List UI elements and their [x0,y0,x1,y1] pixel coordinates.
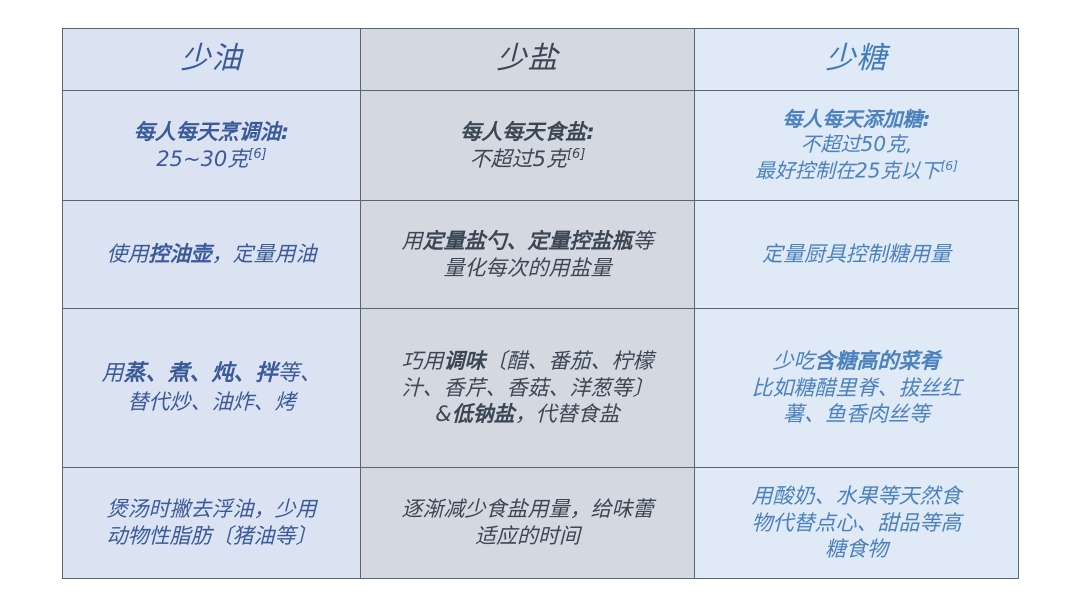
diet-advice-table-wrapper: 少油 少盐 少糖 每人每天烹调油: 25~30克[6] [62,28,1018,578]
sugar-amount-line2: 不超过50克, [703,132,1010,158]
salt-habit-line2: 适应的时间 [369,523,686,550]
salt-method-line3: &低钠盐，代替食盐 [369,401,686,428]
salt-tool-strong: 定量盐勺、定量控盐瓶 [423,229,633,253]
salt-tool-line1: 用定量盐勺、定量控盐瓶等 [369,228,686,255]
salt-amount-line1: 每人每天食盐: [369,119,686,146]
cell-oil-daily-amount: 每人每天烹调油: 25~30克[6] [63,91,361,201]
oil-tool-post: ，定量用油 [212,242,317,266]
oil-tool-pre: 使用 [107,242,149,266]
cell-oil-measuring-tools: 使用控油壶，定量用油 [63,201,361,309]
oil-method-post: 等、 [278,361,322,386]
header-cell-salt: 少盐 [361,29,695,91]
salt-method-amp: & [435,402,451,426]
salt-method-line2: 汁、香芹、香菇、洋葱等〕 [369,375,686,402]
salt-tool-line2: 量化每次的用盐量 [369,255,686,282]
salt-method-l3post: ，代替食盐 [515,402,620,426]
table-row: 每人每天烹调油: 25~30克[6] 每人每天食盐: 不超过5克[6] 每人每天… [63,91,1019,201]
sugar-habit-line2: 物代替点心、甜品等高 [703,510,1010,537]
cell-sugar-habit-change: 用酸奶、水果等天然食 物代替点心、甜品等高 糖食物 [695,468,1019,579]
table-row: 煲汤时撇去浮油，少用 动物性脂肪〔猪油等〕 逐渐减少食盐用量，给味蕾 适应的时间… [63,468,1019,579]
oil-habit-line2: 动物性脂肪〔猪油等〕 [71,523,352,550]
cell-oil-habit-change: 煲汤时撇去浮油，少用 动物性脂肪〔猪油等〕 [63,468,361,579]
sugar-amount-line3: 最好控制在25克以下[6] [703,158,1010,184]
sugar-method-pre: 少吃 [773,349,815,373]
salt-tool-pre: 用 [402,229,423,253]
cell-sugar-cooking-method: 少吃含糖高的菜肴 比如糖醋里脊、拔丝红 薯、鱼香肉丝等 [695,309,1019,468]
salt-amount-value: 不超过5克 [470,147,567,171]
oil-amount-line1: 每人每天烹调油: [71,119,352,146]
diet-advice-table: 少油 少盐 少糖 每人每天烹调油: 25~30克[6] [62,28,1019,579]
cell-salt-measuring-tools: 用定量盐勺、定量控盐瓶等 量化每次的用盐量 [361,201,695,309]
sugar-method-line2: 比如糖醋里脊、拔丝红 [703,375,1010,402]
salt-amount-ref: [6] [567,147,585,162]
oil-tool-line1: 使用控油壶，定量用油 [71,241,352,268]
cell-sugar-measuring-tools: 定量厨具控制糖用量 [695,201,1019,309]
oil-amount-value: 25~30克 [156,147,248,171]
oil-method-pre: 用 [101,361,123,386]
infographic-root: 少油 少盐 少糖 每人每天烹调油: 25~30克[6] [0,0,1080,608]
salt-method-pre: 巧用 [402,349,444,373]
salt-amount-line2: 不超过5克[6] [369,146,686,173]
sugar-method-strong: 含糖高的菜肴 [815,349,941,373]
oil-method-line1: 用蒸、煮、炖、拌等、 [71,360,352,388]
oil-tool-strong: 控油壶 [149,242,212,266]
salt-method-post: 〔醋、番茄、柠檬 [486,349,654,373]
salt-method-strong: 调味 [444,349,486,373]
table-row: 使用控油壶，定量用油 用定量盐勺、定量控盐瓶等 量化每次的用盐量 定量厨具控制糖… [63,201,1019,309]
sugar-habit-line3: 糖食物 [703,536,1010,563]
header-label-sugar: 少糖 [703,40,1010,78]
cell-salt-cooking-method: 巧用调味〔醋、番茄、柠檬 汁、香芹、香菇、洋葱等〕 &低钠盐，代替食盐 [361,309,695,468]
header-cell-sugar: 少糖 [695,29,1019,91]
oil-habit-line1: 煲汤时撇去浮油，少用 [71,496,352,523]
table-row: 用蒸、煮、炖、拌等、 替代炒、油炸、烤 巧用调味〔醋、番茄、柠檬 汁、香芹、香菇… [63,309,1019,468]
cell-oil-cooking-method: 用蒸、煮、炖、拌等、 替代炒、油炸、烤 [63,309,361,468]
table-header-row: 少油 少盐 少糖 [63,29,1019,91]
cell-sugar-daily-amount: 每人每天添加糖: 不超过50克, 最好控制在25克以下[6] [695,91,1019,201]
oil-method-strong: 蒸、煮、炖、拌 [123,361,277,386]
cell-salt-daily-amount: 每人每天食盐: 不超过5克[6] [361,91,695,201]
oil-method-line2: 替代炒、油炸、烤 [71,389,352,416]
sugar-amount-line1: 每人每天添加糖: [703,107,1010,133]
sugar-method-line1: 少吃含糖高的菜肴 [703,348,1010,375]
salt-method-line1: 巧用调味〔醋、番茄、柠檬 [369,348,686,375]
sugar-amount-ref: [6] [940,158,958,173]
header-label-salt: 少盐 [369,40,686,78]
oil-amount-line2: 25~30克[6] [71,146,352,173]
salt-habit-line1: 逐渐减少食盐用量，给味蕾 [369,496,686,523]
salt-method-lowsodium: 低钠盐 [452,402,515,426]
header-cell-oil: 少油 [63,29,361,91]
cell-salt-habit-change: 逐渐减少食盐用量，给味蕾 适应的时间 [361,468,695,579]
sugar-tool-line1: 定量厨具控制糖用量 [703,241,1010,268]
salt-tool-post: 等 [633,229,654,253]
oil-amount-ref: [6] [248,147,266,162]
header-label-oil: 少油 [71,40,352,78]
sugar-habit-line1: 用酸奶、水果等天然食 [703,483,1010,510]
sugar-amount-value: 最好控制在25克以下 [755,159,940,183]
sugar-method-line3: 薯、鱼香肉丝等 [703,401,1010,428]
